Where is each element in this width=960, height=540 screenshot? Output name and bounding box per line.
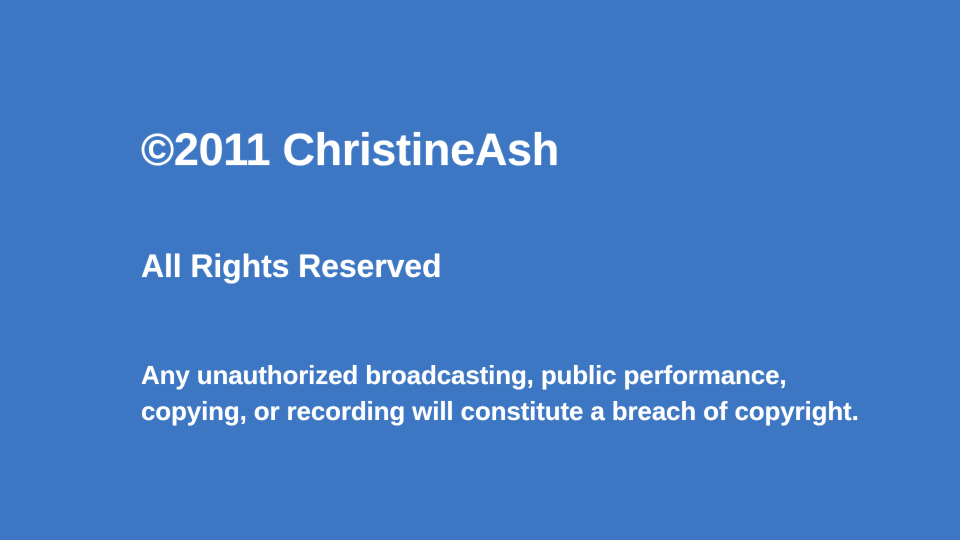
text-stack: ©2011 ChristineAsh All Rights Reserved A… [141,0,931,540]
all-rights-reserved-text: All Rights Reserved [141,250,441,282]
usage-restriction-line-1: Any unauthorized broadcasting, public pe… [141,357,859,393]
copyright-slide: ©2011 ChristineAsh All Rights Reserved A… [0,0,960,540]
usage-restriction-notice: Any unauthorized broadcasting, public pe… [141,357,859,429]
usage-restriction-line-2: copying, or recording will constitute a … [141,393,859,429]
copyright-notice-heading: ©2011 ChristineAsh [141,127,559,172]
